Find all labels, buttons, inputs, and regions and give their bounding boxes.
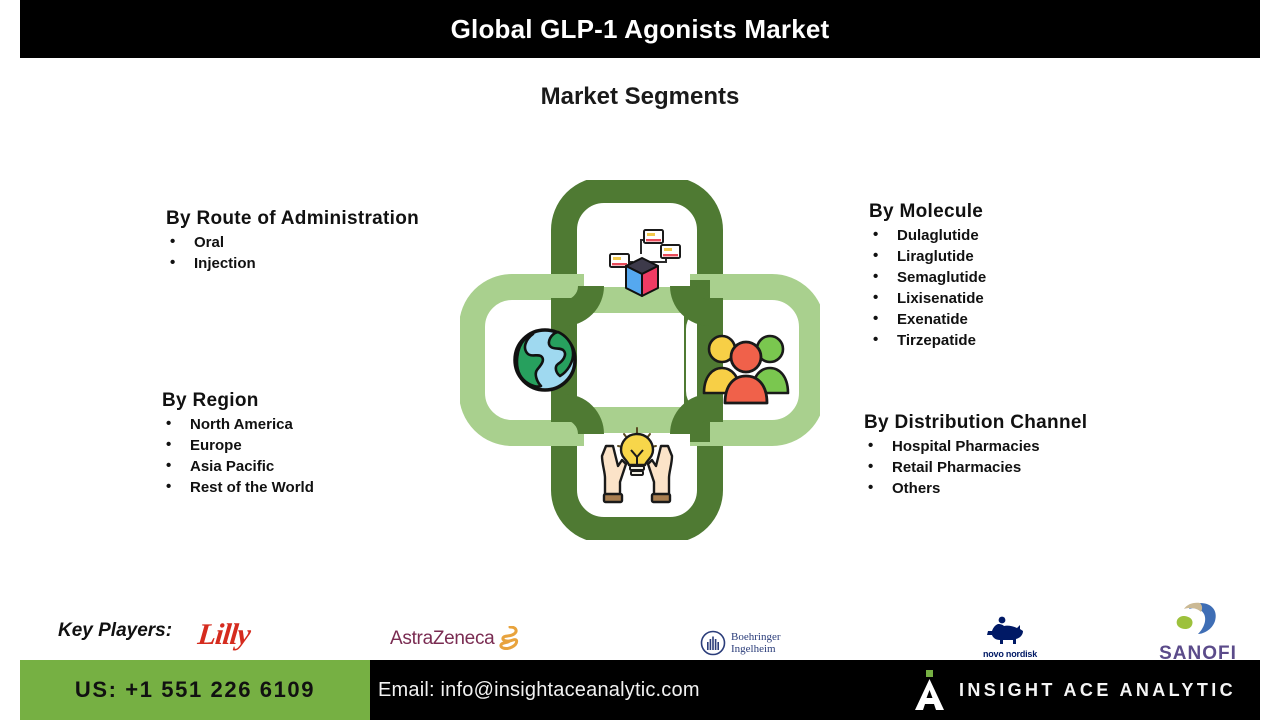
astrazeneca-logo: AstraZeneca — [390, 624, 530, 654]
novo-nordisk-bull-icon — [980, 616, 1040, 646]
boehringer-circle-icon — [700, 630, 726, 656]
boehringer-logo-line1: Boehringer — [731, 631, 780, 643]
list-item: Rest of the World — [162, 477, 314, 498]
slide-canvas: Global GLP-1 Agonists Market Market Segm… — [0, 0, 1280, 720]
footer-email-text: Email: info@insightaceanalytic.com — [378, 679, 700, 702]
footer-brand-text: INSIGHT ACE ANALYTIC — [959, 680, 1236, 701]
list-item: Semaglutide — [869, 267, 986, 288]
list-item: Retail Pharmacies — [864, 457, 1087, 478]
list-item: Oral — [166, 232, 419, 253]
segment-title: By Distribution Channel — [864, 412, 1087, 434]
novo-nordisk-logo-text: novo nordisk — [975, 649, 1045, 659]
lilly-logo-text: Lilly — [196, 618, 270, 652]
footer-email-block: Email: info@insightaceanalytic.com — [378, 660, 700, 720]
segment-list: Oral Injection — [166, 232, 419, 274]
novo-nordisk-logo: novo nordisk — [975, 616, 1045, 658]
boehringer-logo-line2: Ingelheim — [731, 643, 780, 655]
list-item: Hospital Pharmacies — [864, 436, 1087, 457]
astrazeneca-ribbon-icon — [496, 626, 520, 652]
people-group-icon — [704, 336, 788, 403]
list-item: Others — [864, 478, 1087, 499]
footer-phone-text: US: +1 551 226 6109 — [75, 677, 315, 703]
segment-region: By Region North America Europe Asia Paci… — [162, 390, 314, 498]
insight-ace-logo-icon — [915, 670, 945, 710]
segment-title: By Route of Administration — [166, 208, 419, 230]
segment-list: North America Europe Asia Pacific Rest o… — [162, 414, 314, 498]
segment-molecule: By Molecule Dulaglutide Liraglutide Sema… — [869, 201, 986, 351]
list-item: Liraglutide — [869, 246, 986, 267]
page-title: Global GLP-1 Agonists Market — [451, 14, 830, 45]
segment-route-of-administration: By Route of Administration Oral Injectio… — [166, 208, 419, 274]
astrazeneca-logo-text: AstraZeneca — [390, 628, 494, 650]
lilly-logo: Lilly — [198, 618, 268, 654]
segment-list: Hospital Pharmacies Retail Pharmacies Ot… — [864, 436, 1087, 499]
segment-title: By Molecule — [869, 201, 986, 223]
footer-brand-block: INSIGHT ACE ANALYTIC — [915, 660, 1236, 720]
sanofi-logo: SANOFI — [1158, 600, 1238, 658]
list-item: Tirzepatide — [869, 330, 986, 351]
interlocking-rings-graphic — [460, 180, 820, 540]
list-item: Exenatide — [869, 309, 986, 330]
key-players-label: Key Players: — [58, 620, 172, 642]
boehringer-ingelheim-logo: Boehringer Ingelheim — [700, 628, 820, 658]
segment-list: Dulaglutide Liraglutide Semaglutide Lixi… — [869, 225, 986, 351]
segment-title: By Region — [162, 390, 314, 412]
header-bar: Global GLP-1 Agonists Market — [20, 0, 1260, 58]
list-item: Injection — [166, 253, 419, 274]
footer-phone-block: US: +1 551 226 6109 — [20, 660, 370, 720]
subtitle: Market Segments — [0, 83, 1280, 111]
list-item: Europe — [162, 435, 314, 456]
sanofi-swoosh-icon — [1170, 600, 1226, 638]
list-item: Dulaglutide — [869, 225, 986, 246]
list-item: North America — [162, 414, 314, 435]
globe-icon — [515, 330, 575, 390]
segment-distribution-channel: By Distribution Channel Hospital Pharmac… — [864, 412, 1087, 499]
list-item: Lixisenatide — [869, 288, 986, 309]
list-item: Asia Pacific — [162, 456, 314, 477]
